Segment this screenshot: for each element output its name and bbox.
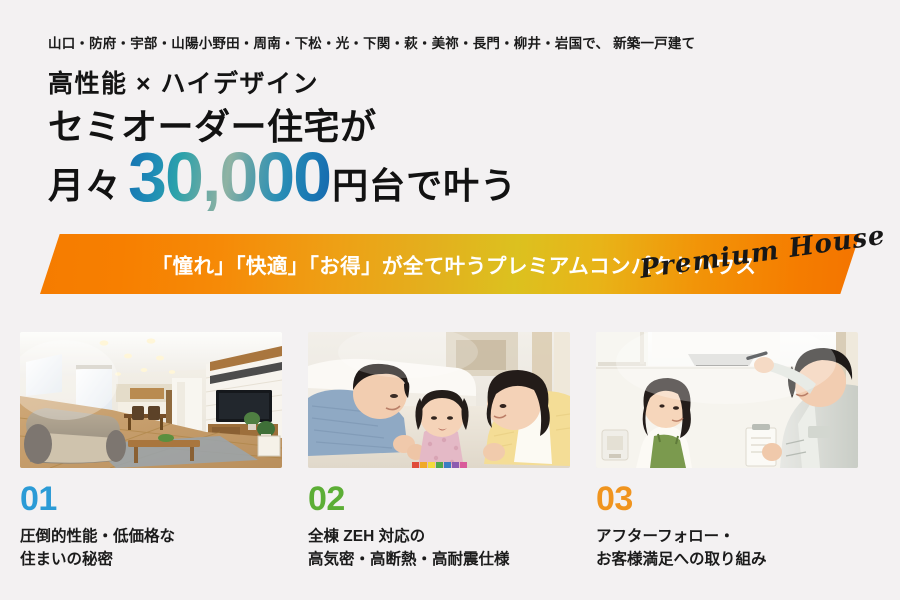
card-description-line-1: 全棟 ZEH 対応の [308,525,570,548]
feature-card[interactable]: 01 圧倒的性能・低価格な 住まいの秘密 [20,332,282,572]
card-description-line-2: お客様満足への取り組み [596,548,858,571]
feature-card-list: 01 圧倒的性能・低価格な 住まいの秘密 [20,332,882,572]
living-room-interior-photo[interactable] [20,332,282,468]
price-prefix-label: 月々 [48,157,122,209]
card-description-line-1: 圧倒的性能・低価格な [20,525,282,548]
card-description: アフターフォロー・ お客様満足への取り組み [596,525,858,572]
card-number: 03 [596,482,858,516]
family-on-floor-photo[interactable] [308,332,570,468]
service-area-eyebrow: 山口・防府・宇部・山陽小野田・周南・下松・光・下関・萩・美祢・長門・柳井・岩国で… [48,32,695,52]
card-number: 02 [308,482,570,516]
monthly-price-row: 月々 30,000 円台で叶う [48,141,517,209]
card-description: 圧倒的性能・低価格な 住まいの秘密 [20,525,282,572]
after-service-inspection-photo[interactable] [596,332,858,468]
ad-banner-root: 山口・防府・宇部・山陽小野田・周南・下松・光・下関・萩・美祢・長門・柳井・岩国で… [0,0,900,600]
card-number: 01 [20,482,282,516]
price-amount-value: 30,000 [128,144,330,211]
headline-performance-design: 高性能 × ハイデザイン [48,64,319,100]
feature-card[interactable]: 02 全棟 ZEH 対応の 高気密・高断熱・高耐震仕様 [308,332,570,572]
card-description-line-2: 高気密・高断熱・高耐震仕様 [308,548,570,571]
card-description: 全棟 ZEH 対応の 高気密・高断熱・高耐震仕様 [308,525,570,572]
feature-card[interactable]: 03 アフターフォロー・ お客様満足への取り組み [596,332,858,572]
card-description-line-2: 住まいの秘密 [20,548,282,571]
price-suffix-label: 円台で叶う [332,157,517,209]
card-description-line-1: アフターフォロー・ [596,525,858,548]
